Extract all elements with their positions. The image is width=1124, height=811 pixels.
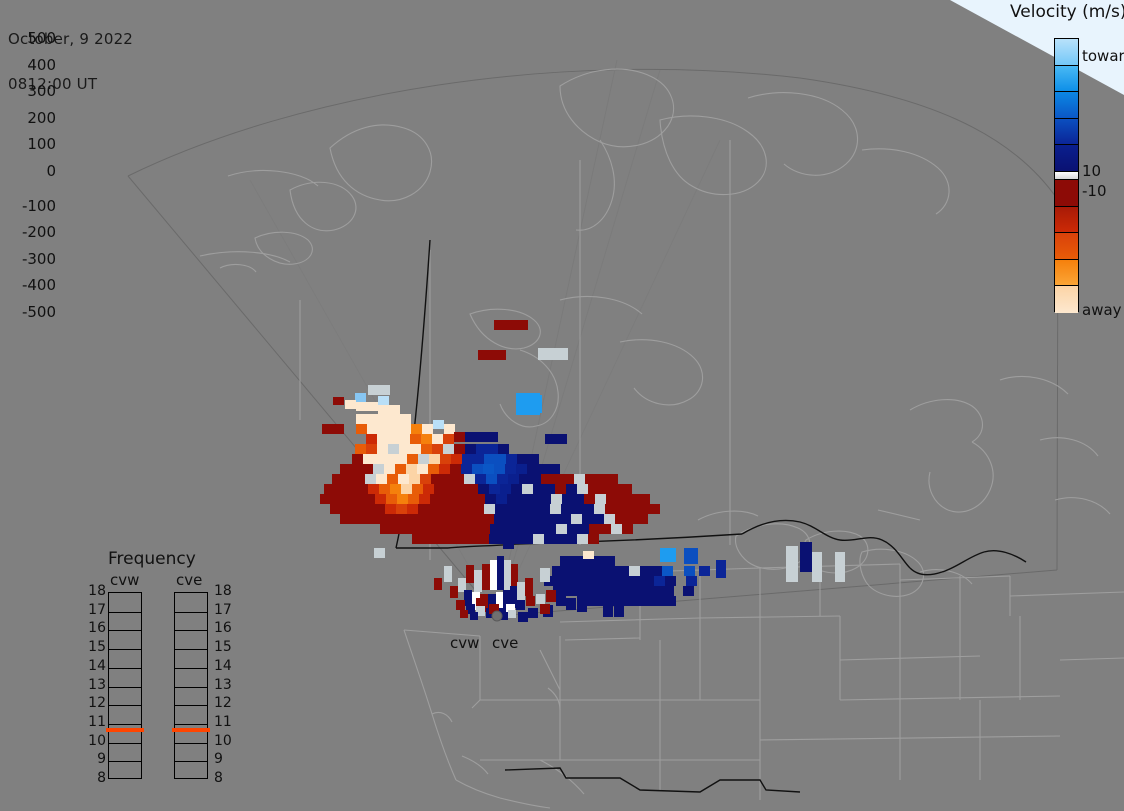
velocity-tick-label: 200: [0, 109, 56, 127]
velocity-near-zero-lower-label: -10: [1082, 182, 1107, 200]
velocity-colorbar-band: [1055, 207, 1078, 234]
velocity-colorbar-band: [1055, 172, 1078, 180]
velocity-colorbar-band: [1055, 260, 1078, 287]
frequency-tick-label-left: 16: [80, 620, 106, 636]
frequency-legend-panel: Frequency cvw cve 18171615141312111098 1…: [80, 545, 250, 795]
velocity-tick-label: 400: [0, 56, 56, 74]
frequency-column-header-cve: cve: [176, 571, 202, 589]
station-label-cvw: cvw: [450, 634, 479, 652]
frequency-tick-line: [109, 724, 141, 725]
frequency-tick-label-left: 10: [80, 733, 106, 749]
frequency-tick-label-right: 17: [214, 602, 240, 618]
frequency-tick-label-right: 12: [214, 695, 240, 711]
velocity-tick-label: 300: [0, 82, 56, 100]
velocity-colorbar-band: [1055, 92, 1078, 119]
frequency-column-cve[interactable]: [174, 592, 208, 779]
velocity-colorbar-title: Velocity (m/s): [1010, 2, 1124, 22]
frequency-tick-line: [175, 668, 207, 669]
frequency-tick-label-left: 11: [80, 714, 106, 730]
velocity-colorbar-band: [1055, 145, 1078, 172]
frequency-tick-line: [109, 743, 141, 744]
frequency-tick-label-right: 9: [214, 751, 240, 767]
velocity-tick-label: -400: [0, 276, 56, 294]
frequency-tick-label-right: 14: [214, 658, 240, 674]
frequency-tick-label-left: 18: [80, 583, 106, 599]
frequency-tick-label-left: 15: [80, 639, 106, 655]
frequency-tick-label-right: 11: [214, 714, 240, 730]
frequency-tick-line: [175, 743, 207, 744]
frequency-tick-line: [109, 668, 141, 669]
frequency-tick-line: [109, 649, 141, 650]
velocity-near-zero-upper-label: 10: [1082, 162, 1101, 180]
frequency-column-header-cvw: cvw: [110, 571, 139, 589]
frequency-tick-line: [175, 761, 207, 762]
velocity-colorbar-band: [1055, 39, 1078, 66]
frequency-tick-label-right: 10: [214, 733, 240, 749]
frequency-tick-line: [175, 724, 207, 725]
velocity-colorbar-band: [1055, 66, 1078, 93]
frequency-tick-line: [175, 612, 207, 613]
frequency-tick-label-right: 18: [214, 583, 240, 599]
velocity-colorbar-band: [1055, 180, 1078, 207]
frequency-tick-label-right: 16: [214, 620, 240, 636]
frequency-tick-line: [109, 630, 141, 631]
velocity-tick-label: -100: [0, 197, 56, 215]
frequency-tick-label-right: 15: [214, 639, 240, 655]
frequency-tick-label-left: 12: [80, 695, 106, 711]
frequency-column-cvw[interactable]: [108, 592, 142, 779]
frequency-tick-line: [175, 687, 207, 688]
frequency-tick-line: [175, 705, 207, 706]
velocity-tick-label: 500: [0, 29, 56, 47]
frequency-legend-title: Frequency: [108, 549, 196, 569]
frequency-tick-line: [109, 687, 141, 688]
velocity-toward-label: toward: [1082, 47, 1124, 65]
frequency-marker: [172, 728, 210, 732]
velocity-tick-label: -500: [0, 303, 56, 321]
velocity-colorbar-band: [1055, 119, 1078, 146]
frequency-tick-label-left: 17: [80, 602, 106, 618]
velocity-colorbar-band: [1055, 286, 1078, 313]
velocity-colorbar-band: [1055, 233, 1078, 260]
frequency-tick-label-right: 8: [214, 770, 240, 786]
radar-velocity-map: October, 9 2022 0812:00 UT cvw cve Veloc…: [0, 0, 1124, 811]
frequency-tick-line: [175, 630, 207, 631]
station-label-cve: cve: [492, 634, 518, 652]
velocity-tick-label: 0: [0, 162, 56, 180]
frequency-tick-line: [109, 761, 141, 762]
velocity-away-label: away: [1082, 301, 1122, 319]
frequency-tick-label-left: 13: [80, 677, 106, 693]
velocity-tick-label: -300: [0, 250, 56, 268]
frequency-tick-label-left: 9: [80, 751, 106, 767]
velocity-tick-label: -200: [0, 223, 56, 241]
frequency-tick-label-right: 13: [214, 677, 240, 693]
frequency-marker: [106, 728, 144, 732]
velocity-tick-label: 100: [0, 135, 56, 153]
frequency-tick-label-left: 14: [80, 658, 106, 674]
frequency-tick-label-left: 8: [80, 770, 106, 786]
frequency-tick-line: [109, 612, 141, 613]
velocity-colorbar-strip[interactable]: [1054, 38, 1079, 312]
frequency-tick-line: [175, 649, 207, 650]
frequency-tick-line: [109, 705, 141, 706]
